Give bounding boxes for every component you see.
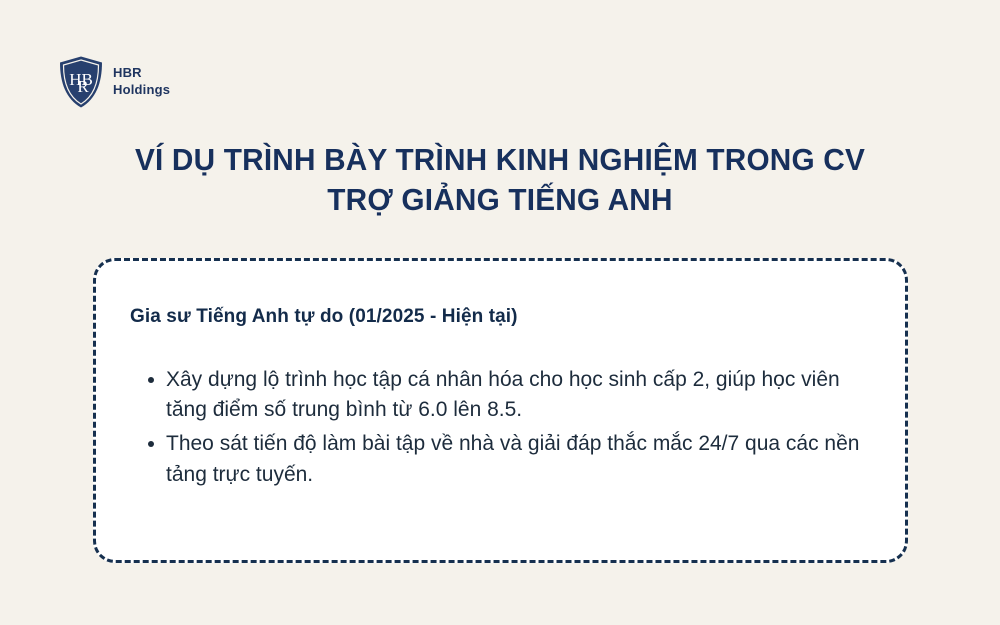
page-title-line2: TRỢ GIẢNG TIẾNG ANH <box>20 180 980 220</box>
bullet-dot-icon <box>148 377 154 383</box>
brand-name-line2: Holdings <box>113 82 170 99</box>
list-item-text: Theo sát tiến độ làm bài tập về nhà và g… <box>166 432 859 485</box>
brand-name-line1: HBR <box>113 65 170 82</box>
brand-wordmark: HBR Holdings <box>113 65 170 98</box>
experience-card-heading: Gia sư Tiếng Anh tự do (01/2025 - Hiện t… <box>130 306 518 328</box>
experience-card: Gia sư Tiếng Anh tự do (01/2025 - Hiện t… <box>93 258 908 563</box>
list-item-text: Xây dựng lộ trình học tập cá nhân hóa ch… <box>166 368 840 421</box>
page-title: VÍ DỤ TRÌNH BÀY TRÌNH KINH NGHIỆM TRONG … <box>20 140 980 219</box>
experience-bullet-list: Xây dựng lộ trình học tập cá nhân hóa ch… <box>136 365 885 494</box>
hbr-shield-icon: HB R <box>58 55 104 109</box>
list-item: Theo sát tiến độ làm bài tập về nhà và g… <box>136 429 885 489</box>
bullet-dot-icon <box>148 441 154 447</box>
svg-text:R: R <box>77 77 89 96</box>
page-title-line1: VÍ DỤ TRÌNH BÀY TRÌNH KINH NGHIỆM TRONG … <box>20 140 980 180</box>
list-item: Xây dựng lộ trình học tập cá nhân hóa ch… <box>136 365 885 425</box>
brand-logo: HB R HBR Holdings <box>58 55 170 109</box>
